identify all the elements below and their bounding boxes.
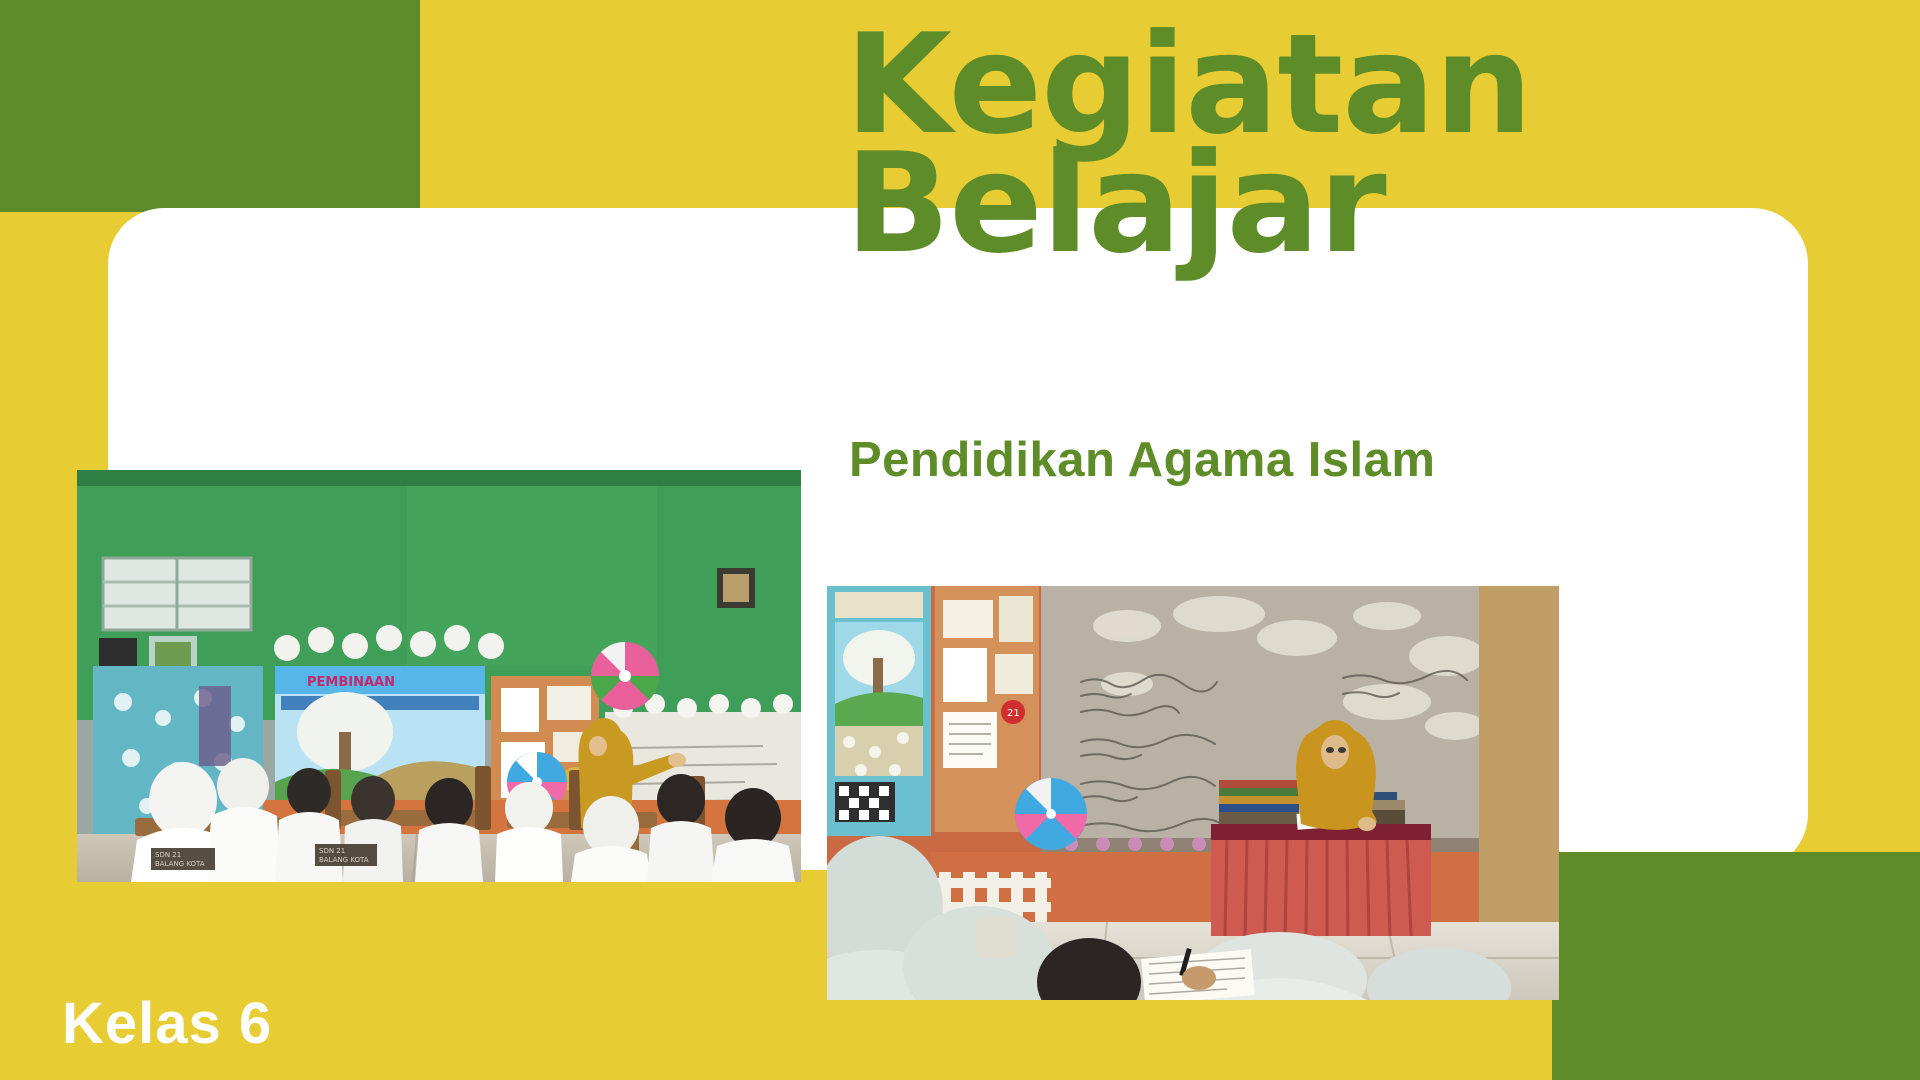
page-subtitle: Pendidikan Agama Islam bbox=[849, 432, 1436, 488]
quatrefoil-pattern-bottom-right bbox=[1552, 852, 1920, 1080]
classroom-teacher-at-desk-photo: 21 bbox=[827, 586, 1559, 1000]
quatrefoil-pattern-top-left bbox=[0, 0, 420, 212]
svg-text:21: 21 bbox=[1007, 708, 1020, 719]
svg-text:SDN 21: SDN 21 bbox=[155, 851, 181, 859]
svg-text:BALANG KOTA: BALANG KOTA bbox=[155, 860, 205, 868]
classroom-teacher-at-whiteboard-photo: PEMBINAAN bbox=[77, 470, 801, 882]
svg-text:BALANG KOTA: BALANG KOTA bbox=[319, 856, 369, 864]
class-label: Kelas 6 bbox=[62, 990, 272, 1057]
svg-text:SDN 21: SDN 21 bbox=[319, 847, 345, 855]
svg-text:PEMBINAAN: PEMBINAAN bbox=[307, 675, 395, 690]
page-title: Kegiatan Belajar bbox=[845, 28, 1605, 260]
